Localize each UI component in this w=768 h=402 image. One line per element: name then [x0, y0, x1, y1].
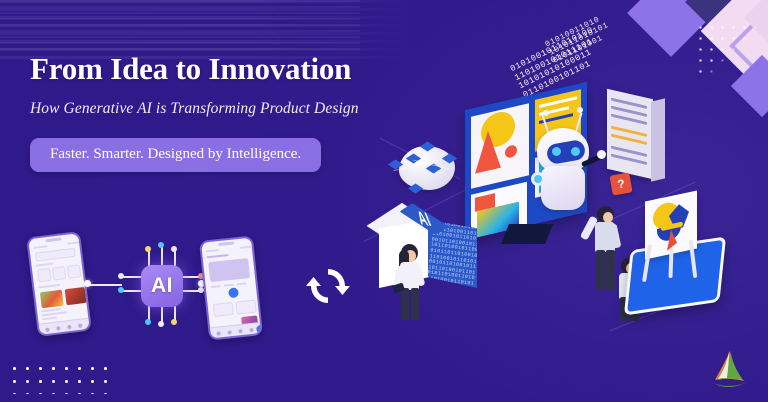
screen-stand [501, 224, 553, 244]
ai-chip-core: AI [141, 265, 183, 307]
phone-notch [45, 237, 61, 242]
page-title: From Idea to Innovation [30, 52, 450, 87]
design-easel [637, 196, 711, 280]
text-block: From Idea to Innovation How Generative A… [30, 52, 450, 172]
robot-body [541, 166, 585, 210]
server-rack [607, 94, 663, 184]
person-analyst [391, 244, 431, 328]
ai-chip-graphic: AI [122, 246, 200, 324]
brand-sail-logo [700, 348, 758, 392]
generated-app-phone-mockup [199, 235, 263, 340]
ai-chip-label: AI [151, 274, 173, 298]
sync-refresh-icon [306, 264, 350, 308]
page-subtitle: How Generative AI is Transforming Produc… [30, 100, 450, 118]
banner-root: From Idea to Innovation How Generative A… [0, 0, 768, 402]
question-badge: ? [609, 172, 632, 195]
phone-notch [218, 241, 234, 246]
source-app-phone-mockup [26, 231, 92, 337]
dot-grid-bottom-left-icon [8, 362, 114, 394]
stripe-texture-overlay [0, 0, 360, 50]
tagline-badge: Faster. Smarter. Designed by Intelligenc… [30, 138, 321, 172]
left-illustration: AI [18, 228, 348, 358]
connector-node-left [84, 280, 91, 287]
